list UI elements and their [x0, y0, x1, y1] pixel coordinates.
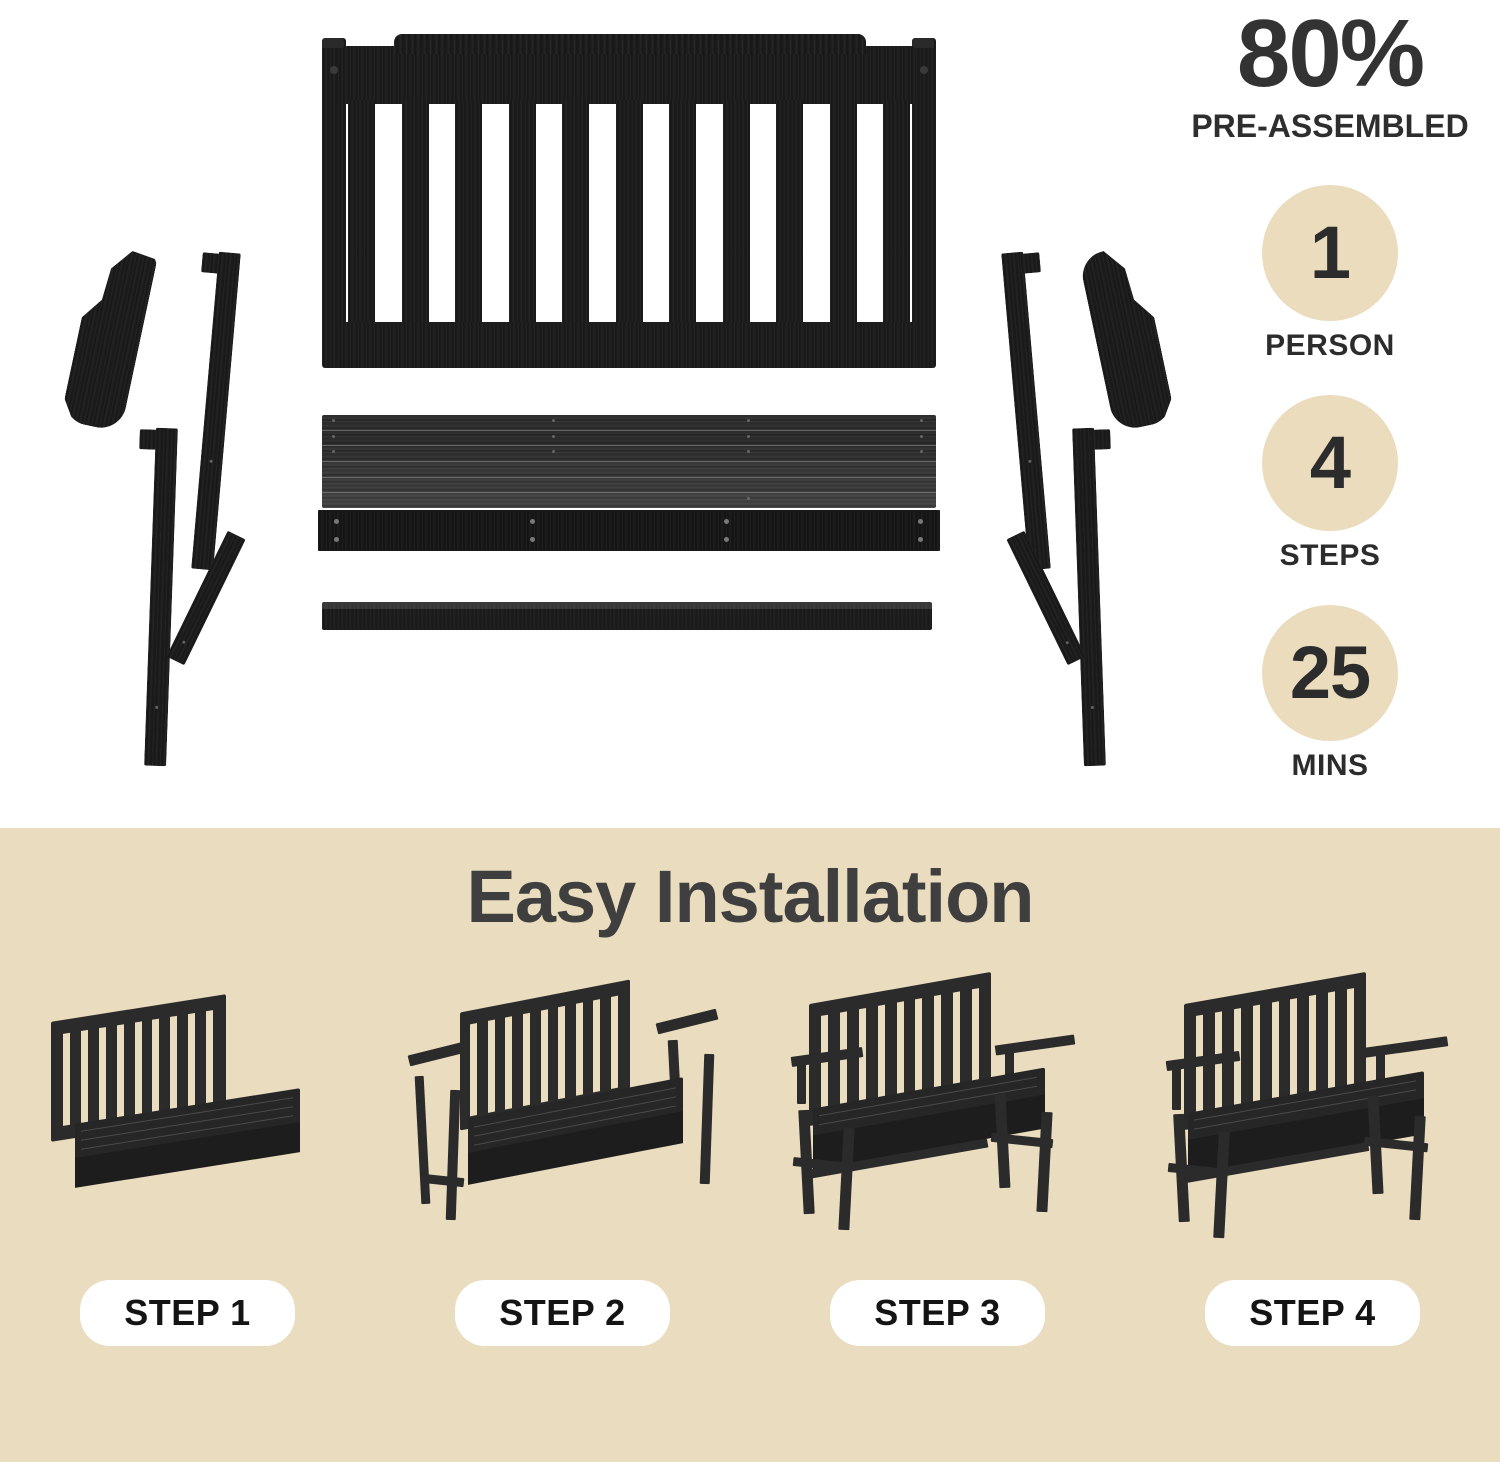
slat-gap: [170, 1016, 177, 1109]
step-3-figure: [783, 978, 1093, 1268]
badge-circle: 25: [1262, 605, 1398, 741]
screw-icon: [747, 450, 750, 453]
badge-person: 1 PERSON: [1230, 185, 1430, 363]
screw-icon: [918, 537, 923, 542]
infographic-page: 80% PRE-ASSEMBLED 1 PERSON 4 STEPS 25 MI…: [0, 0, 1500, 1462]
slat-gap: [972, 988, 979, 1085]
backrest-slat: [562, 100, 589, 325]
screw-icon: [334, 537, 339, 542]
screw-icon: [182, 640, 186, 644]
screw-icon: [724, 519, 729, 524]
badge-steps: 4 STEPS: [1230, 395, 1430, 573]
screw-icon: [552, 435, 555, 438]
right-armrest-part: [1078, 244, 1176, 433]
slat-gap: [915, 998, 922, 1095]
left-armrest-part: [60, 244, 158, 433]
seat-slat: [322, 478, 936, 494]
backrest-slat: [616, 100, 643, 325]
slat-gap: [505, 1016, 512, 1109]
slat-gap: [1290, 998, 1297, 1099]
seat-front-apron: [318, 510, 940, 551]
slat-gap: [593, 999, 600, 1092]
backrest-slat: [402, 100, 429, 325]
screw-icon: [155, 706, 158, 709]
screw-icon: [747, 435, 750, 438]
post-knob-icon: [330, 66, 338, 74]
slat-gap: [63, 1033, 70, 1126]
screw-icon: [747, 497, 750, 500]
step-1-figure: [33, 978, 343, 1268]
post-knob-icon: [920, 66, 928, 74]
screw-icon: [1091, 706, 1094, 709]
badge-number: 25: [1290, 636, 1370, 710]
badge-circle: 4: [1262, 395, 1398, 531]
badge-number: 1: [1310, 216, 1350, 290]
screw-icon: [552, 450, 555, 453]
slat-gap: [470, 1023, 477, 1116]
backrest-slat: [669, 100, 696, 325]
slat-gap: [80, 1030, 87, 1123]
backrest-panel-part: [322, 32, 936, 370]
backrest-slat: [348, 100, 375, 325]
backrest-slat: [830, 100, 857, 325]
screw-icon: [1065, 641, 1069, 645]
screw-icon: [530, 519, 535, 524]
step-item: STEP 2: [388, 978, 738, 1346]
post-cap-icon: [912, 38, 934, 48]
leg-notch: [1090, 429, 1111, 450]
backrest-slat: [455, 100, 482, 325]
leg-notch: [201, 252, 223, 274]
step-label-chip: STEP 2: [455, 1280, 669, 1346]
screw-icon: [918, 519, 923, 524]
slat-gap: [188, 1013, 195, 1106]
left-front-leg: [144, 428, 178, 767]
screw-icon: [332, 450, 335, 453]
section-title: Easy Installation: [0, 854, 1500, 939]
slat-gap: [206, 1010, 213, 1103]
slat-gap: [1271, 1001, 1278, 1102]
seat-slats: [322, 415, 936, 508]
slat-gap: [558, 1006, 565, 1099]
slat-gap: [611, 996, 618, 1089]
screw-icon: [334, 519, 339, 524]
backrest-slat: [776, 100, 803, 325]
backrest-slat: [509, 100, 536, 325]
screw-icon: [530, 537, 535, 542]
loose-leg-left-rear: [414, 1076, 430, 1204]
slat-gap: [1252, 1005, 1259, 1106]
slat-gap: [821, 1015, 828, 1112]
slat-gap: [934, 995, 941, 1092]
headline-percentage: 80%: [1180, 6, 1480, 102]
post-cap-icon: [322, 38, 344, 48]
right-front-leg: [1072, 428, 1106, 767]
leg-notch: [139, 429, 160, 450]
backrest-slat: [883, 100, 910, 325]
backrest-slats: [348, 100, 910, 325]
step-label-chip: STEP 4: [1205, 1280, 1419, 1346]
cross-support-rail-part: [322, 602, 932, 630]
badge-number: 4: [1310, 426, 1350, 500]
screw-icon: [920, 419, 923, 422]
slat-gap: [116, 1024, 123, 1117]
step-item: STEP 3: [763, 978, 1113, 1346]
seat-slat: [322, 493, 936, 508]
step-item: STEP 1: [13, 978, 363, 1346]
seat-slat: [322, 431, 936, 447]
arm-support-left: [797, 1058, 806, 1104]
slat-gap: [134, 1021, 141, 1114]
slat-gap: [540, 1009, 547, 1102]
seat-slat: [322, 446, 936, 462]
installation-steps-row: STEP 1: [0, 978, 1500, 1346]
slat-gap: [98, 1027, 105, 1120]
left-rear-leg: [191, 252, 241, 571]
backrest-bottom-rail: [342, 322, 916, 368]
step-item: STEP 4: [1138, 978, 1488, 1346]
step-label-chip: STEP 3: [830, 1280, 1044, 1346]
exploded-parts-section: 80% PRE-ASSEMBLED 1 PERSON 4 STEPS 25 MI…: [0, 0, 1500, 828]
screw-icon: [1028, 460, 1031, 463]
badge-label: PERSON: [1230, 329, 1430, 363]
slat-gap: [1309, 995, 1316, 1096]
stats-badge-rail: 80% PRE-ASSEMBLED 1 PERSON 4 STEPS 25 MI…: [1180, 0, 1500, 828]
leg-notch: [1019, 252, 1041, 274]
badge-label: STEPS: [1230, 539, 1430, 573]
badge-label: MINS: [1230, 749, 1430, 783]
screw-icon: [552, 419, 555, 422]
loose-armrest-right: [655, 1009, 718, 1035]
slat-gap: [1328, 991, 1335, 1092]
seat-assembly-part: [318, 415, 940, 551]
slat-gap: [896, 1001, 903, 1098]
step-4-figure: [1158, 978, 1468, 1268]
screw-icon: [724, 537, 729, 542]
screw-icon: [209, 460, 212, 463]
screw-icon: [920, 435, 923, 438]
parts-diagram: [0, 0, 1180, 828]
right-rear-leg: [1001, 252, 1051, 571]
badge-circle: 1: [1262, 185, 1398, 321]
headline-subtitle: PRE-ASSEMBLED: [1180, 108, 1480, 145]
slat-gap: [522, 1013, 529, 1106]
seat-slat: [322, 462, 936, 478]
loose-leg-right-front: [699, 1054, 714, 1184]
slat-gap: [1347, 988, 1354, 1089]
screw-icon: [332, 419, 335, 422]
arm-support-left: [1172, 1062, 1181, 1110]
screw-icon: [920, 450, 923, 453]
badge-mins: 25 MINS: [1230, 605, 1430, 783]
easy-installation-section: Easy Installation: [0, 828, 1500, 1462]
slat-gap: [575, 1002, 582, 1095]
slat-gap: [877, 1005, 884, 1102]
loose-leg-left-front: [445, 1090, 460, 1220]
screw-icon: [332, 435, 335, 438]
slat-gap: [152, 1019, 159, 1112]
backrest-top-rail: [342, 46, 916, 104]
step-2-figure: [408, 978, 718, 1268]
slat-gap: [487, 1020, 494, 1113]
screw-icon: [747, 419, 750, 422]
backrest-slat: [723, 100, 750, 325]
slat-gap: [953, 991, 960, 1088]
seat-slat: [322, 415, 936, 431]
step-label-chip: STEP 1: [80, 1280, 294, 1346]
